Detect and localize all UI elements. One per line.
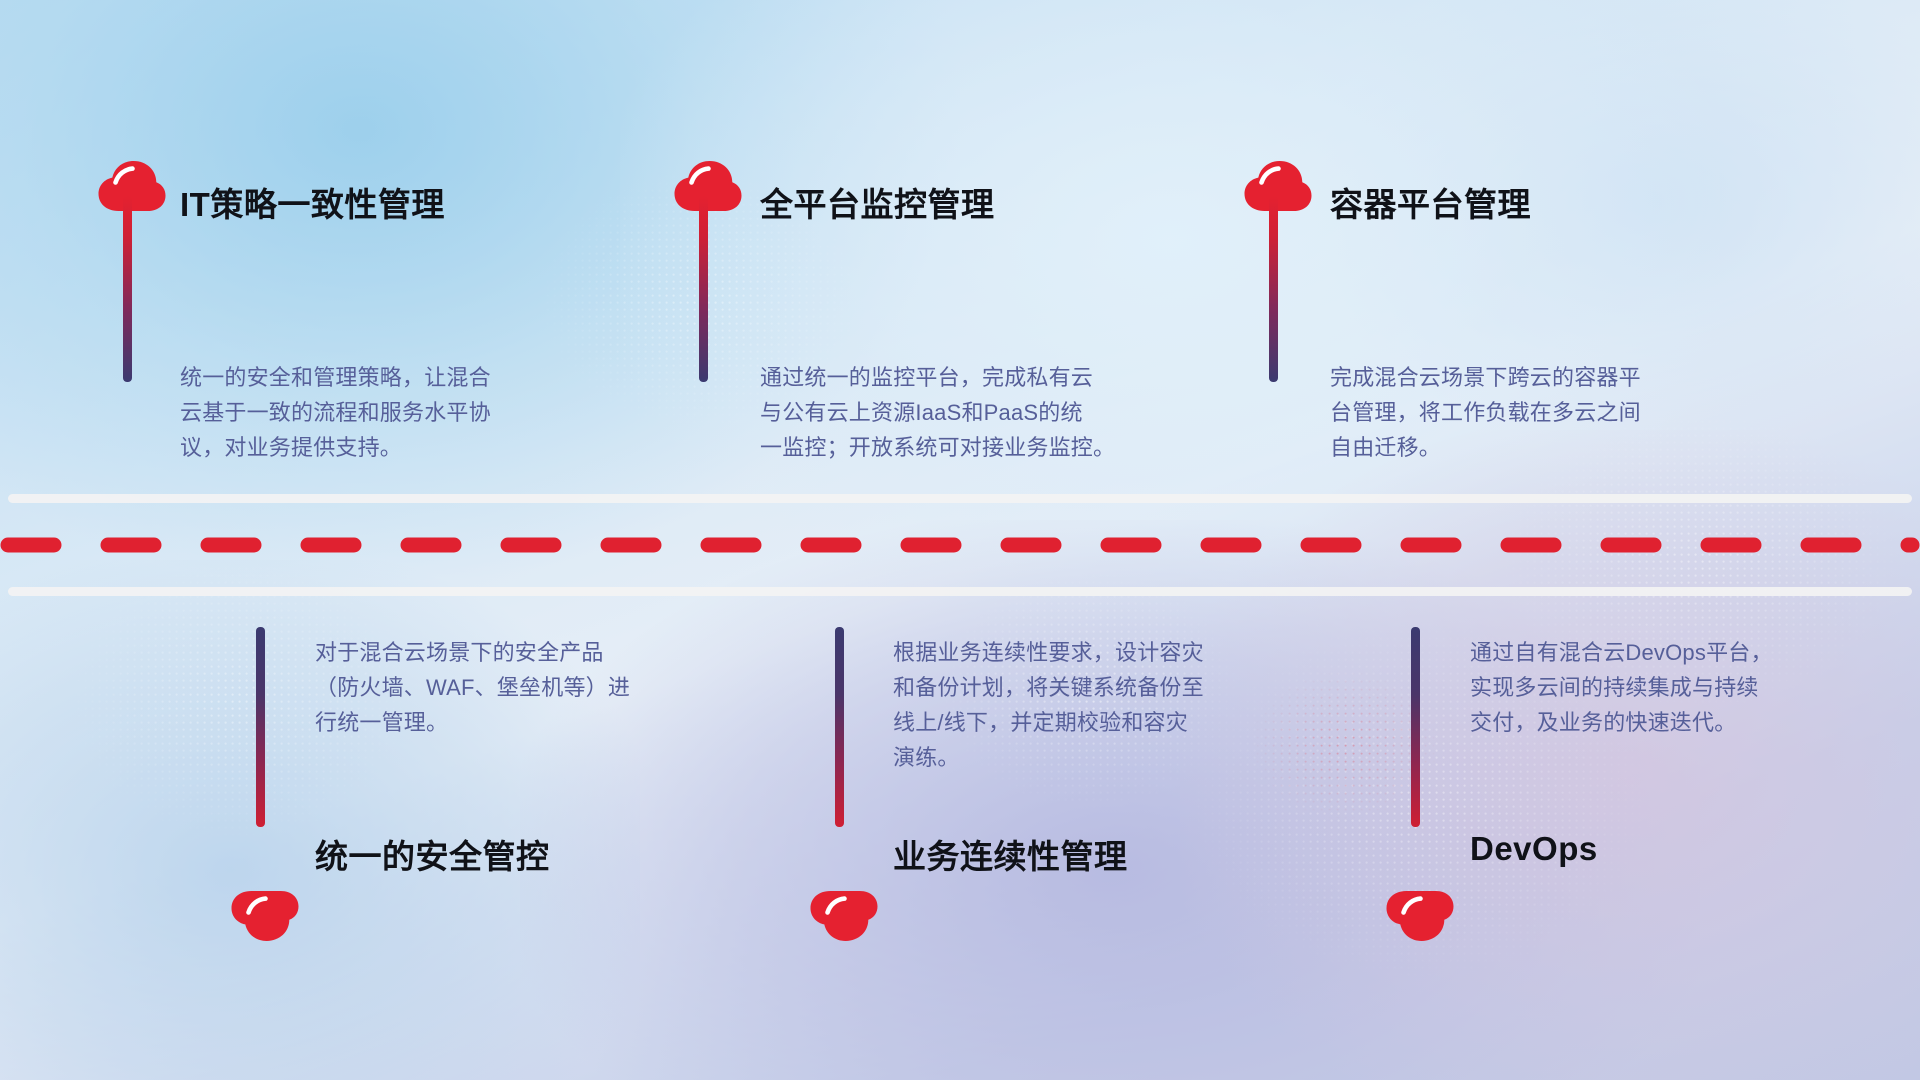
desc-line: 交付，及业务的快速迭代。 — [1470, 705, 1773, 740]
connector-stem — [1269, 196, 1278, 382]
desc-line: 根据业务连续性要求，设计容灾 — [893, 635, 1204, 670]
divider-solid-line-top — [8, 494, 1912, 503]
item-title: 容器平台管理 — [1330, 178, 1531, 226]
divider — [0, 494, 1920, 596]
divider-dashed-line — [0, 537, 1920, 553]
desc-line: 自由迁移。 — [1330, 430, 1641, 465]
infographic-canvas: IT策略一致性管理 统一的安全和管理策略，让混合 云基于一致的流程和服务水平协 … — [0, 0, 1920, 1080]
desc-line: 一监控；开放系统可对接业务监控。 — [760, 430, 1115, 465]
cloud-icon — [673, 160, 743, 212]
desc-line: 线上/线下，并定期校验和容灾 — [893, 705, 1204, 740]
item-description: 完成混合云场景下跨云的容器平 台管理，将工作负载在多云之间 自由迁移。 — [1330, 360, 1641, 465]
connector-stem — [1411, 627, 1420, 827]
item-title: DevOps — [1470, 830, 1598, 868]
desc-line: 与公有云上资源IaaS和PaaS的统 — [760, 395, 1115, 430]
desc-line: 和备份计划，将关键系统备份至 — [893, 670, 1204, 705]
item-title: IT策略一致性管理 — [180, 178, 445, 226]
desc-line: 完成混合云场景下跨云的容器平 — [1330, 360, 1641, 395]
item-description: 统一的安全和管理策略，让混合 云基于一致的流程和服务水平协 议，对业务提供支持。 — [180, 360, 491, 465]
cloud-icon — [230, 890, 300, 942]
connector-stem — [256, 627, 265, 827]
desc-line: 通过统一的监控平台，完成私有云 — [760, 360, 1115, 395]
connector-stem — [699, 196, 708, 382]
cloud-icon — [97, 160, 167, 212]
desc-line: 云基于一致的流程和服务水平协 — [180, 395, 491, 430]
cloud-icon — [1385, 890, 1455, 942]
item-title: 统一的安全管控 — [315, 830, 550, 878]
item-description: 通过自有混合云DevOps平台， 实现多云间的持续集成与持续 交付，及业务的快速… — [1470, 635, 1773, 740]
item-title: 业务连续性管理 — [893, 830, 1128, 878]
cloud-icon — [1243, 160, 1313, 212]
connector-stem — [123, 196, 132, 382]
desc-line: 议，对业务提供支持。 — [180, 430, 491, 465]
item-title: 全平台监控管理 — [760, 178, 995, 226]
desc-line: 实现多云间的持续集成与持续 — [1470, 670, 1773, 705]
item-description: 根据业务连续性要求，设计容灾 和备份计划，将关键系统备份至 线上/线下，并定期校… — [893, 635, 1204, 775]
item-description: 通过统一的监控平台，完成私有云 与公有云上资源IaaS和PaaS的统 一监控；开… — [760, 360, 1115, 465]
desc-line: （防火墙、WAF、堡垒机等）进 — [315, 670, 630, 705]
desc-line: 统一的安全和管理策略，让混合 — [180, 360, 491, 395]
desc-line: 台管理，将工作负载在多云之间 — [1330, 395, 1641, 430]
cloud-icon — [809, 890, 879, 942]
item-description: 对于混合云场景下的安全产品 （防火墙、WAF、堡垒机等）进 行统一管理。 — [315, 635, 630, 740]
desc-line: 演练。 — [893, 740, 1204, 775]
connector-stem — [835, 627, 844, 827]
desc-line: 对于混合云场景下的安全产品 — [315, 635, 630, 670]
divider-solid-line-bottom — [8, 587, 1912, 596]
desc-line: 通过自有混合云DevOps平台， — [1470, 635, 1773, 670]
desc-line: 行统一管理。 — [315, 705, 630, 740]
